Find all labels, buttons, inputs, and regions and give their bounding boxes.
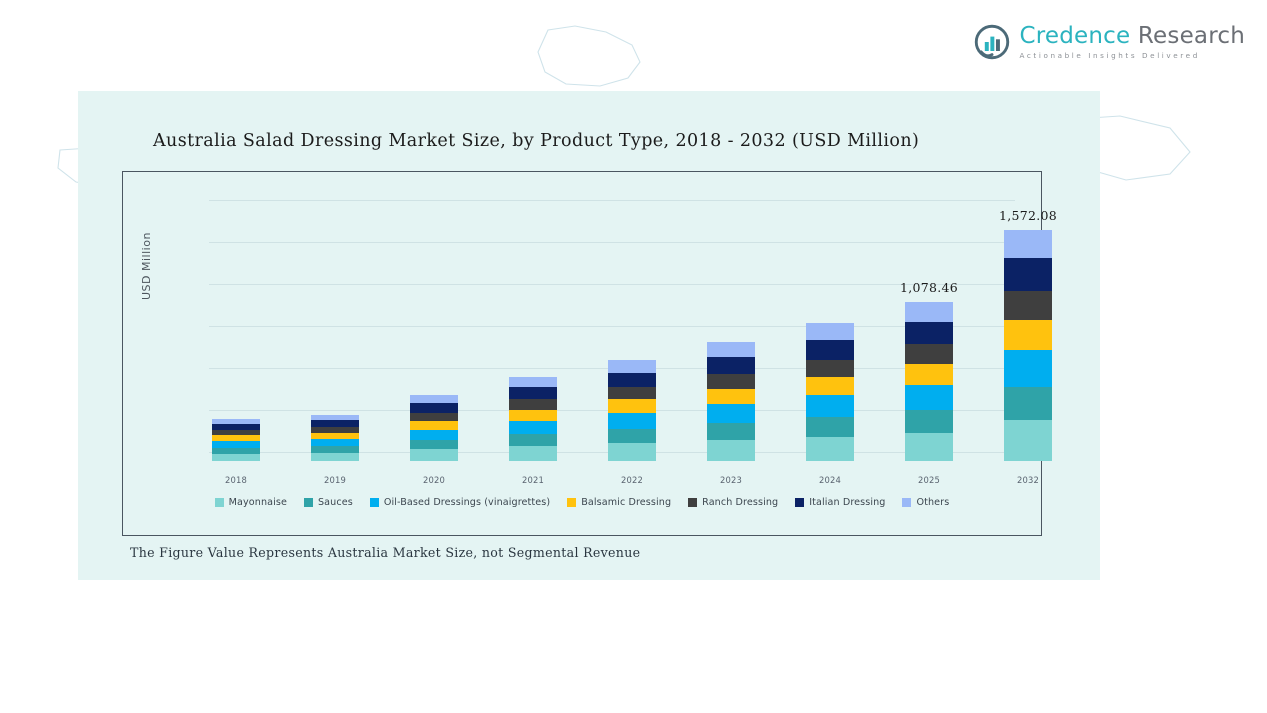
bar-column[interactable] (707, 342, 755, 461)
bar-column[interactable] (212, 419, 260, 461)
bar-series-layer: 20182019202020212022202320241,078.462025… (122, 171, 1042, 536)
bar-segment[interactable] (608, 429, 656, 443)
bar-segment[interactable] (410, 413, 458, 421)
legend-swatch (795, 498, 804, 507)
brand-tagline: Actionable Insights Delivered (1019, 52, 1245, 59)
legend-label: Others (916, 497, 949, 508)
bar-segment[interactable] (905, 433, 953, 461)
bar-segment[interactable] (806, 395, 854, 417)
legend-item[interactable]: Others (902, 497, 949, 508)
bar-segment[interactable] (1004, 258, 1052, 291)
bar-segment[interactable] (212, 454, 260, 461)
bar-segment[interactable] (806, 417, 854, 437)
bar-segment[interactable] (905, 364, 953, 385)
bar-segment[interactable] (1004, 320, 1052, 351)
brand-name: Credence Research (1019, 25, 1245, 48)
bar-segment[interactable] (905, 410, 953, 432)
bar-segment[interactable] (509, 387, 557, 399)
bar-column[interactable] (608, 360, 656, 461)
legend-label: Italian Dressing (809, 497, 885, 508)
bar-segment[interactable] (1004, 350, 1052, 387)
legend-swatch (304, 498, 313, 507)
bar-segment[interactable] (707, 404, 755, 423)
legend-label: Mayonnaise (229, 497, 287, 508)
bar-segment[interactable] (509, 410, 557, 421)
legend-item[interactable]: Italian Dressing (795, 497, 885, 508)
bar-segment[interactable] (806, 437, 854, 461)
x-axis-tick: 2020 (410, 475, 458, 485)
bar-segment[interactable] (707, 374, 755, 389)
bar-column[interactable]: 1,572.08 (1004, 230, 1052, 461)
brand-name-primary: Credence (1019, 23, 1130, 49)
brand-name-secondary: Research (1138, 23, 1245, 49)
bar-segment[interactable] (806, 377, 854, 395)
legend-swatch (567, 498, 576, 507)
bar-value-label: 1,078.46 (900, 280, 958, 295)
bar-segment[interactable] (410, 421, 458, 430)
x-axis-tick: 2022 (608, 475, 656, 485)
bar-column[interactable] (806, 323, 854, 461)
bar-segment[interactable] (608, 413, 656, 429)
bar-segment[interactable] (212, 441, 260, 448)
bar-segment[interactable] (509, 399, 557, 409)
chart-title: Australia Salad Dressing Market Size, by… (153, 131, 919, 151)
circular-bar-chart-logo-icon (974, 24, 1010, 60)
legend-swatch (688, 498, 697, 507)
bar-segment[interactable] (905, 302, 953, 322)
x-axis-tick: 2019 (311, 475, 359, 485)
legend-item[interactable]: Oil-Based Dressings (vinaigrettes) (370, 497, 550, 508)
chart-legend: MayonnaiseSaucesOil-Based Dressings (vin… (122, 497, 1042, 508)
legend-swatch (215, 498, 224, 507)
x-axis-tick: 2024 (806, 475, 854, 485)
figure-footnote: The Figure Value Represents Australia Ma… (130, 545, 640, 560)
bar-segment[interactable] (707, 440, 755, 461)
legend-item[interactable]: Balsamic Dressing (567, 497, 671, 508)
bar-column[interactable] (509, 377, 557, 461)
legend-swatch (902, 498, 911, 507)
bar-segment[interactable] (806, 323, 854, 340)
legend-label: Sauces (318, 497, 353, 508)
bar-segment[interactable] (905, 344, 953, 364)
bar-segment[interactable] (311, 439, 359, 446)
legend-label: Oil-Based Dressings (vinaigrettes) (384, 497, 550, 508)
bar-segment[interactable] (707, 389, 755, 405)
bar-segment[interactable] (410, 403, 458, 412)
legend-label: Balsamic Dressing (581, 497, 671, 508)
bar-column[interactable] (311, 415, 359, 461)
bar-value-label: 1,572.08 (999, 208, 1057, 223)
bar-segment[interactable] (608, 443, 656, 461)
bar-segment[interactable] (905, 322, 953, 344)
bar-segment[interactable] (608, 373, 656, 387)
bar-segment[interactable] (509, 446, 557, 461)
bar-segment[interactable] (1004, 387, 1052, 420)
bar-segment[interactable] (707, 342, 755, 357)
x-axis-tick: 2032 (1004, 475, 1052, 485)
bar-segment[interactable] (905, 385, 953, 410)
legend-label: Ranch Dressing (702, 497, 778, 508)
x-axis-tick: 2018 (212, 475, 260, 485)
bar-segment[interactable] (1004, 230, 1052, 259)
bar-segment[interactable] (509, 421, 557, 434)
bar-segment[interactable] (1004, 420, 1052, 461)
bar-segment[interactable] (410, 395, 458, 403)
legend-item[interactable]: Mayonnaise (215, 497, 287, 508)
x-axis-tick: 2021 (509, 475, 557, 485)
bar-segment[interactable] (608, 399, 656, 412)
bar-segment[interactable] (410, 430, 458, 440)
bar-segment[interactable] (806, 340, 854, 360)
bar-column[interactable]: 1,078.46 (905, 302, 953, 461)
bar-segment[interactable] (509, 377, 557, 387)
bar-segment[interactable] (608, 360, 656, 372)
bar-column[interactable] (410, 395, 458, 461)
legend-swatch (370, 498, 379, 507)
bar-segment[interactable] (311, 453, 359, 461)
bar-segment[interactable] (410, 440, 458, 449)
bar-segment[interactable] (707, 357, 755, 374)
bar-segment[interactable] (707, 423, 755, 440)
bar-segment[interactable] (1004, 291, 1052, 320)
brand-logo: Credence Research Actionable Insights De… (974, 24, 1245, 60)
x-axis-tick: 2025 (905, 475, 953, 485)
legend-item[interactable]: Ranch Dressing (688, 497, 778, 508)
bar-segment[interactable] (806, 360, 854, 377)
bar-segment[interactable] (410, 449, 458, 461)
legend-item[interactable]: Sauces (304, 497, 353, 508)
bar-segment[interactable] (509, 434, 557, 446)
x-axis-tick: 2023 (707, 475, 755, 485)
bar-segment[interactable] (608, 387, 656, 399)
